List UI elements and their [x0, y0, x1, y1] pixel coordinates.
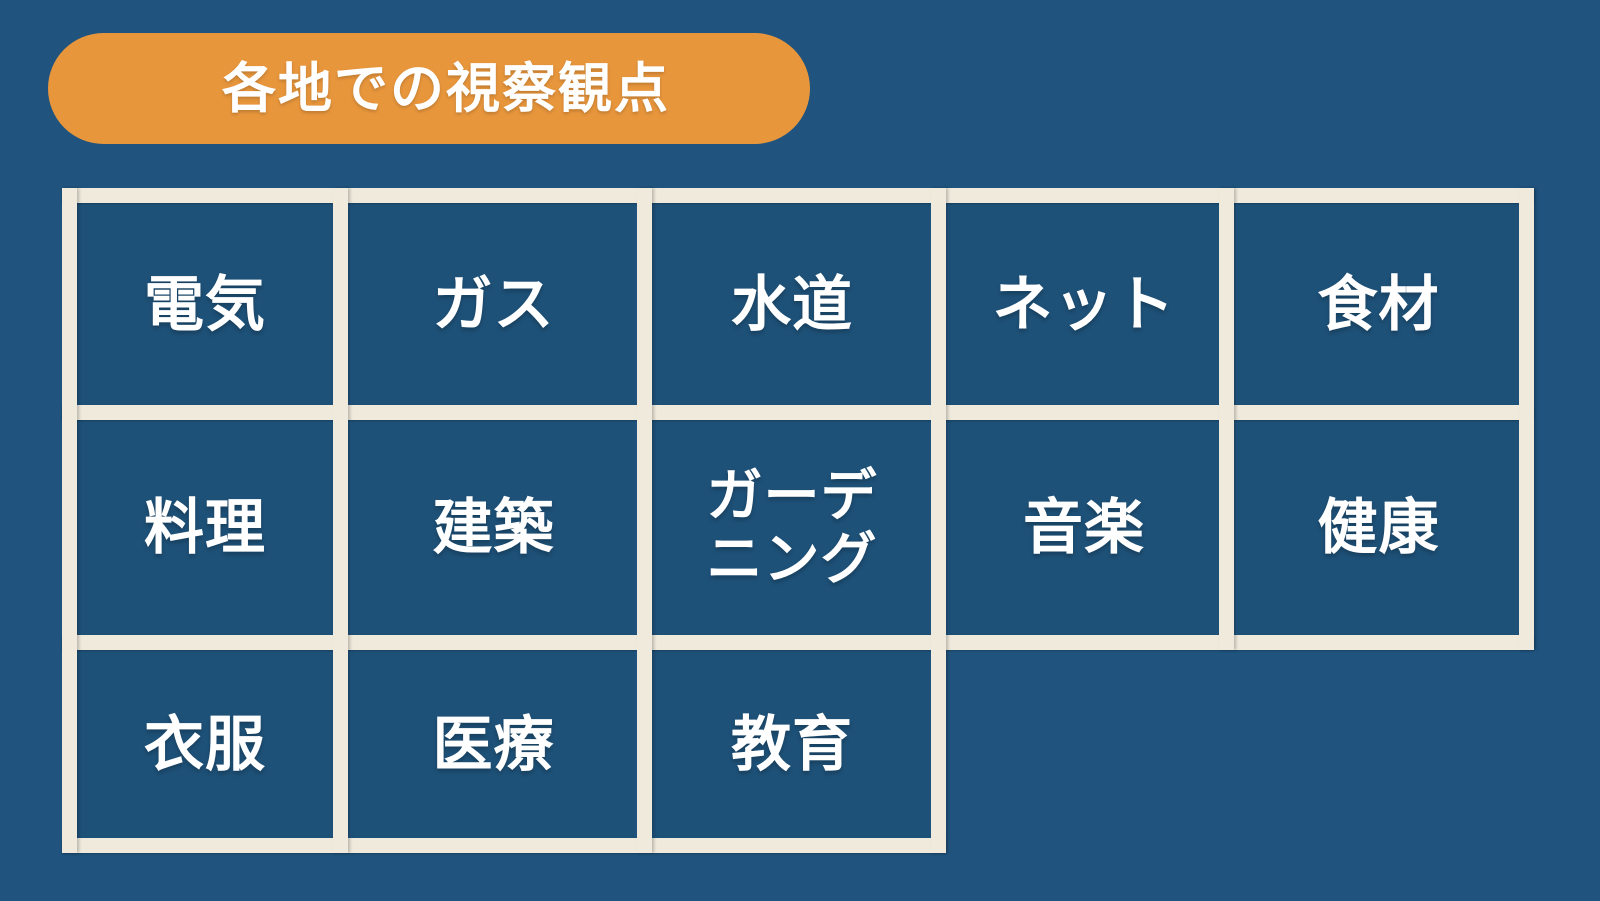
grid-cell-suido[interactable]: 水道 [654, 203, 930, 405]
grid-cell-gas[interactable]: ガス [352, 203, 635, 405]
page-title: 各地での視察観点 [188, 62, 670, 116]
grid-line-vertical [1219, 188, 1234, 650]
grid-cell-kyoiku[interactable]: 教育 [654, 650, 930, 838]
grid-cell-net[interactable]: ネット [949, 203, 1219, 405]
grid-cell-label: 水道 [731, 273, 853, 336]
grid-cell-label: 健康 [1318, 496, 1440, 559]
grid-cell-gardening[interactable]: ガーデ ニング [654, 420, 930, 635]
grid-cell-denki[interactable]: 電気 [77, 203, 333, 405]
grid-cell-label: 教育 [731, 713, 853, 776]
grid-line-horizontal [946, 188, 1234, 203]
grid-line-vertical [62, 188, 77, 853]
title-pill: 各地での視察観点 [48, 33, 810, 144]
grid-cell-kenko[interactable]: 健康 [1238, 420, 1519, 635]
grid-cell-ifuku[interactable]: 衣服 [77, 650, 333, 838]
grid-cell-label: 料理 [144, 496, 266, 559]
grid-cell-label: ガーデ ニング [707, 465, 878, 590]
grid-cell-ongaku[interactable]: 音楽 [949, 420, 1219, 635]
grid-line-vertical [333, 188, 348, 853]
grid-cell-label: ガス [433, 273, 555, 336]
grid-cell-label: 医療 [433, 713, 555, 776]
grid-cell-label: 建築 [433, 496, 555, 559]
grid-cell-kenchiku[interactable]: 建築 [352, 420, 635, 635]
grid-line-horizontal [946, 635, 1534, 650]
grid-line-vertical [931, 188, 946, 853]
grid-cell-label: ネット [993, 273, 1176, 336]
grid-line-horizontal [62, 188, 946, 203]
grid-line-horizontal [1234, 405, 1534, 420]
grid-cell-label: 電気 [144, 273, 266, 336]
grid-line-vertical [1519, 188, 1534, 650]
grid-cell-label: 衣服 [144, 713, 266, 776]
grid-line-vertical [637, 188, 652, 853]
grid-cell-shokuzai[interactable]: 食材 [1238, 203, 1519, 405]
grid-cell-label: 音楽 [1023, 496, 1145, 559]
grid-cell-iryo[interactable]: 医療 [352, 650, 635, 838]
grid-line-horizontal [62, 635, 946, 650]
slide-canvas: 各地での視察観点 電気 ガス 水道 ネット 食材 料理 建築 ガーデ ニング [0, 0, 1600, 901]
grid-line-horizontal [62, 838, 946, 853]
category-grid: 電気 ガス 水道 ネット 食材 料理 建築 ガーデ ニング 音楽 健康 [62, 188, 1534, 853]
grid-line-horizontal [1234, 188, 1534, 203]
grid-cell-label: 食材 [1318, 273, 1440, 336]
grid-cell-ryori[interactable]: 料理 [77, 420, 333, 635]
grid-line-horizontal [62, 405, 348, 420]
grid-line-horizontal [946, 405, 1234, 420]
